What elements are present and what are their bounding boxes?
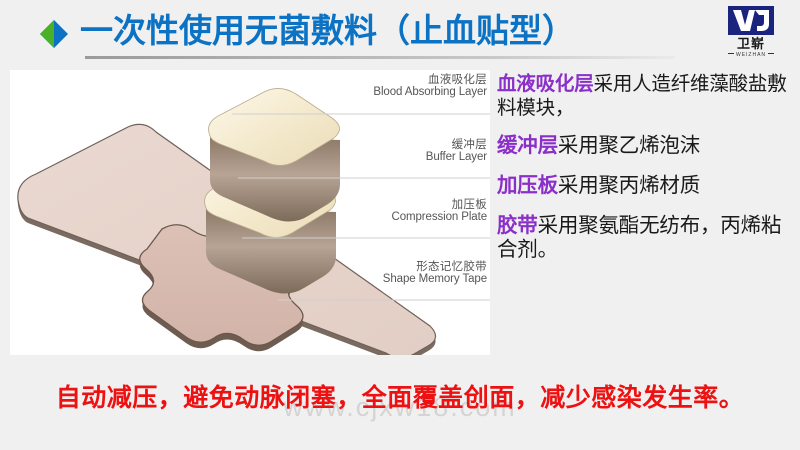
callout-label-cn: 加压板 — [237, 199, 487, 211]
callout-compression-plate: 加压板 Compression Plate — [237, 199, 487, 224]
callout-label-cn: 形态记忆胶带 — [237, 261, 487, 273]
brand-name-cn: 卫崭 — [720, 37, 782, 51]
callout-shape-memory-tape: 形态记忆胶带 Shape Memory Tape — [237, 261, 487, 286]
callout-label-cn: 缓冲层 — [237, 139, 487, 151]
description-term: 血液吸化层 — [497, 73, 594, 95]
description-paragraph-tape: 胶带采用聚氨酯无纺布，丙烯粘合剂。 — [497, 214, 797, 262]
description-paragraph-blood-layer: 血液吸化层采用人造纤维藻酸盐敷料模块， — [497, 72, 797, 120]
weizhan-w-mark-icon — [724, 6, 778, 36]
brand-logo: 卫崭 WEIZHAN — [720, 6, 782, 62]
callout-label-en: Shape Memory Tape — [237, 273, 487, 285]
footer-statement: 自动减压，避免动脉闭塞，全面覆盖创面，减少感染发生率。 — [0, 378, 800, 414]
callout-label-en: Compression Plate — [237, 211, 487, 223]
callout-label-en: Blood Absorbing Layer — [237, 86, 487, 98]
slide-header: 一次性使用无菌敷料（止血贴型） 卫崭 WEIZHAN — [0, 0, 800, 64]
description-paragraph-compression-plate: 加压板采用聚丙烯材质 — [497, 174, 797, 198]
description-term: 胶带 — [497, 214, 538, 237]
description-term: 加压板 — [497, 174, 558, 197]
callout-blood-absorbing-layer: 血液吸化层 Blood Absorbing Layer — [237, 74, 487, 99]
callout-buffer-layer: 缓冲层 Buffer Layer — [237, 139, 487, 164]
description-block: 血液吸化层采用人造纤维藻酸盐敷料模块， 缓冲层采用聚乙烯泡沫 加压板采用聚丙烯材… — [497, 72, 797, 276]
description-text: 采用聚氨酯无纺布，丙烯粘合剂。 — [497, 214, 781, 261]
page-title: 一次性使用无菌敷料（止血贴型） — [80, 8, 575, 54]
callout-label-cn: 血液吸化层 — [237, 74, 487, 86]
diamond-bullet-icon — [40, 20, 68, 48]
title-underline — [85, 56, 675, 59]
description-term: 缓冲层 — [497, 134, 558, 157]
description-paragraph-buffer-layer: 缓冲层采用聚乙烯泡沫 — [497, 134, 797, 158]
brand-name-en: WEIZHAN — [720, 51, 782, 59]
description-text: 采用聚乙烯泡沫 — [558, 134, 700, 157]
brand-name-en-text: WEIZHAN — [736, 52, 766, 58]
callout-label-en: Buffer Layer — [237, 151, 487, 163]
description-text: 采用聚丙烯材质 — [558, 174, 700, 197]
